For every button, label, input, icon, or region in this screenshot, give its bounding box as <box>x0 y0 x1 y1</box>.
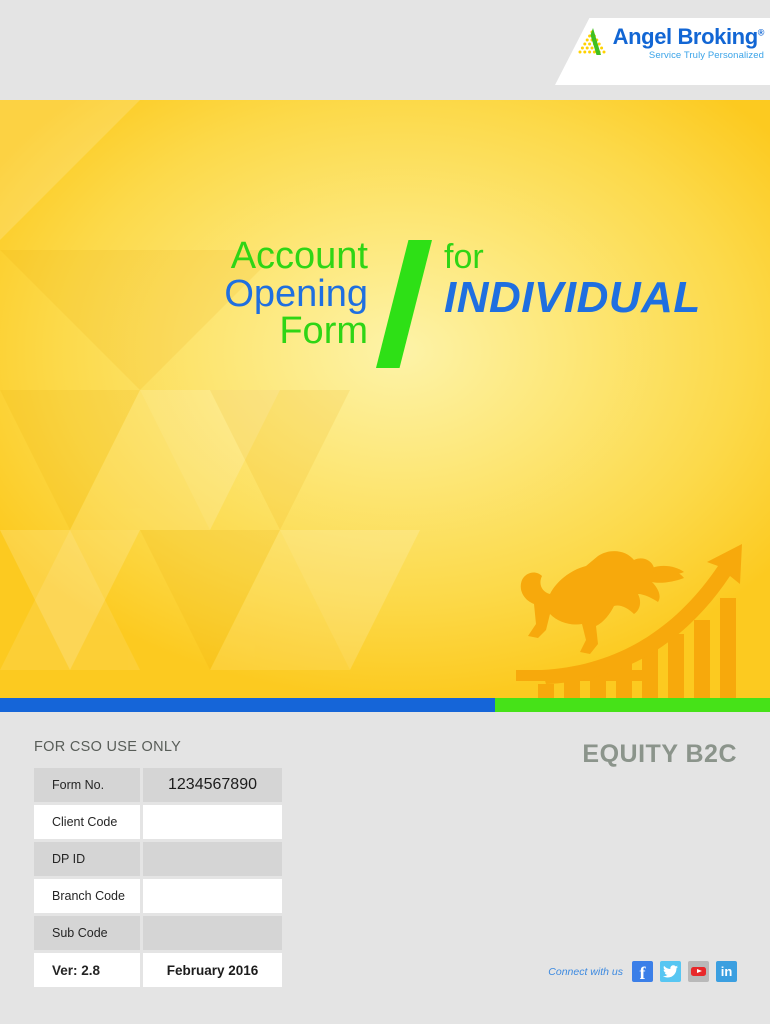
version-date: February 2016 <box>143 953 282 987</box>
color-bar-green-segment <box>495 698 770 712</box>
version-label: Ver: 2.8 <box>34 953 140 987</box>
cover-title-block: Account Opening Form for INDIVIDUAL <box>180 238 720 373</box>
table-row: Client Code <box>34 805 282 839</box>
brand-logo: Angel Broking® Service Truly Personalize… <box>577 26 764 61</box>
table-cell-value[interactable] <box>143 842 282 876</box>
facebook-icon[interactable]: f <box>632 961 653 982</box>
table-row: Ver: 2.8 February 2016 <box>34 953 282 987</box>
table-cell-value[interactable]: 1234567890 <box>143 768 282 802</box>
title-for: for <box>444 240 701 274</box>
table-cell-label: Sub Code <box>34 916 140 950</box>
registered-mark: ® <box>758 28 764 38</box>
green-slash-divider-icon <box>376 240 432 368</box>
brand-name: Angel Broking® <box>613 26 764 48</box>
table-cell-label: Branch Code <box>34 879 140 913</box>
twitter-icon[interactable] <box>660 961 681 982</box>
table-cell-value[interactable] <box>143 879 282 913</box>
accent-color-bar <box>0 698 770 712</box>
table-cell-value[interactable] <box>143 805 282 839</box>
document-page: Angel Broking® Service Truly Personalize… <box>0 0 770 1024</box>
title-line-form: Form <box>224 313 368 351</box>
connect-label: Connect with us <box>548 966 623 978</box>
table-cell-label: Client Code <box>34 805 140 839</box>
table-row: Branch Code <box>34 879 282 913</box>
product-label: EQUITY B2C <box>582 740 737 769</box>
table-row: Form No. 1234567890 <box>34 768 282 802</box>
table-cell-value[interactable] <box>143 916 282 950</box>
table-cell-label: DP ID <box>34 842 140 876</box>
title-line-account: Account <box>224 238 368 276</box>
page-footer: FOR CSO USE ONLY Form No. 1234567890 Cli… <box>0 712 770 1024</box>
bull-and-growth-chart-icon <box>502 538 762 698</box>
facebook-glyph: f <box>640 964 646 982</box>
youtube-play-glyph <box>691 967 706 976</box>
cover-panel: Account Opening Form for INDIVIDUAL <box>0 100 770 698</box>
linkedin-glyph: in <box>721 965 733 978</box>
table-cell-label: Form No. <box>34 768 140 802</box>
cover-title-right: for INDIVIDUAL <box>444 240 701 320</box>
twitter-bird-glyph <box>663 965 678 978</box>
cso-section-title: FOR CSO USE ONLY <box>34 739 181 755</box>
brand-tagline: Service Truly Personalized <box>649 51 764 61</box>
brand-name-text: Angel Broking <box>613 24 758 49</box>
cso-details-table: Form No. 1234567890 Client Code DP ID Br… <box>34 768 282 990</box>
page-header: Angel Broking® Service Truly Personalize… <box>0 0 770 100</box>
title-line-opening: Opening <box>224 276 368 314</box>
title-subject: INDIVIDUAL <box>444 276 701 320</box>
table-row: DP ID <box>34 842 282 876</box>
linkedin-icon[interactable]: in <box>716 961 737 982</box>
color-bar-blue-segment <box>0 698 495 712</box>
connect-with-us-block: Connect with us f in <box>548 961 737 982</box>
youtube-icon[interactable] <box>688 961 709 982</box>
angel-triangle-icon <box>577 26 607 60</box>
angel-triangle-svg <box>577 26 607 60</box>
table-row: Sub Code <box>34 916 282 950</box>
cover-title-left: Account Opening Form <box>224 238 368 351</box>
brand-logo-text: Angel Broking® Service Truly Personalize… <box>613 26 764 61</box>
